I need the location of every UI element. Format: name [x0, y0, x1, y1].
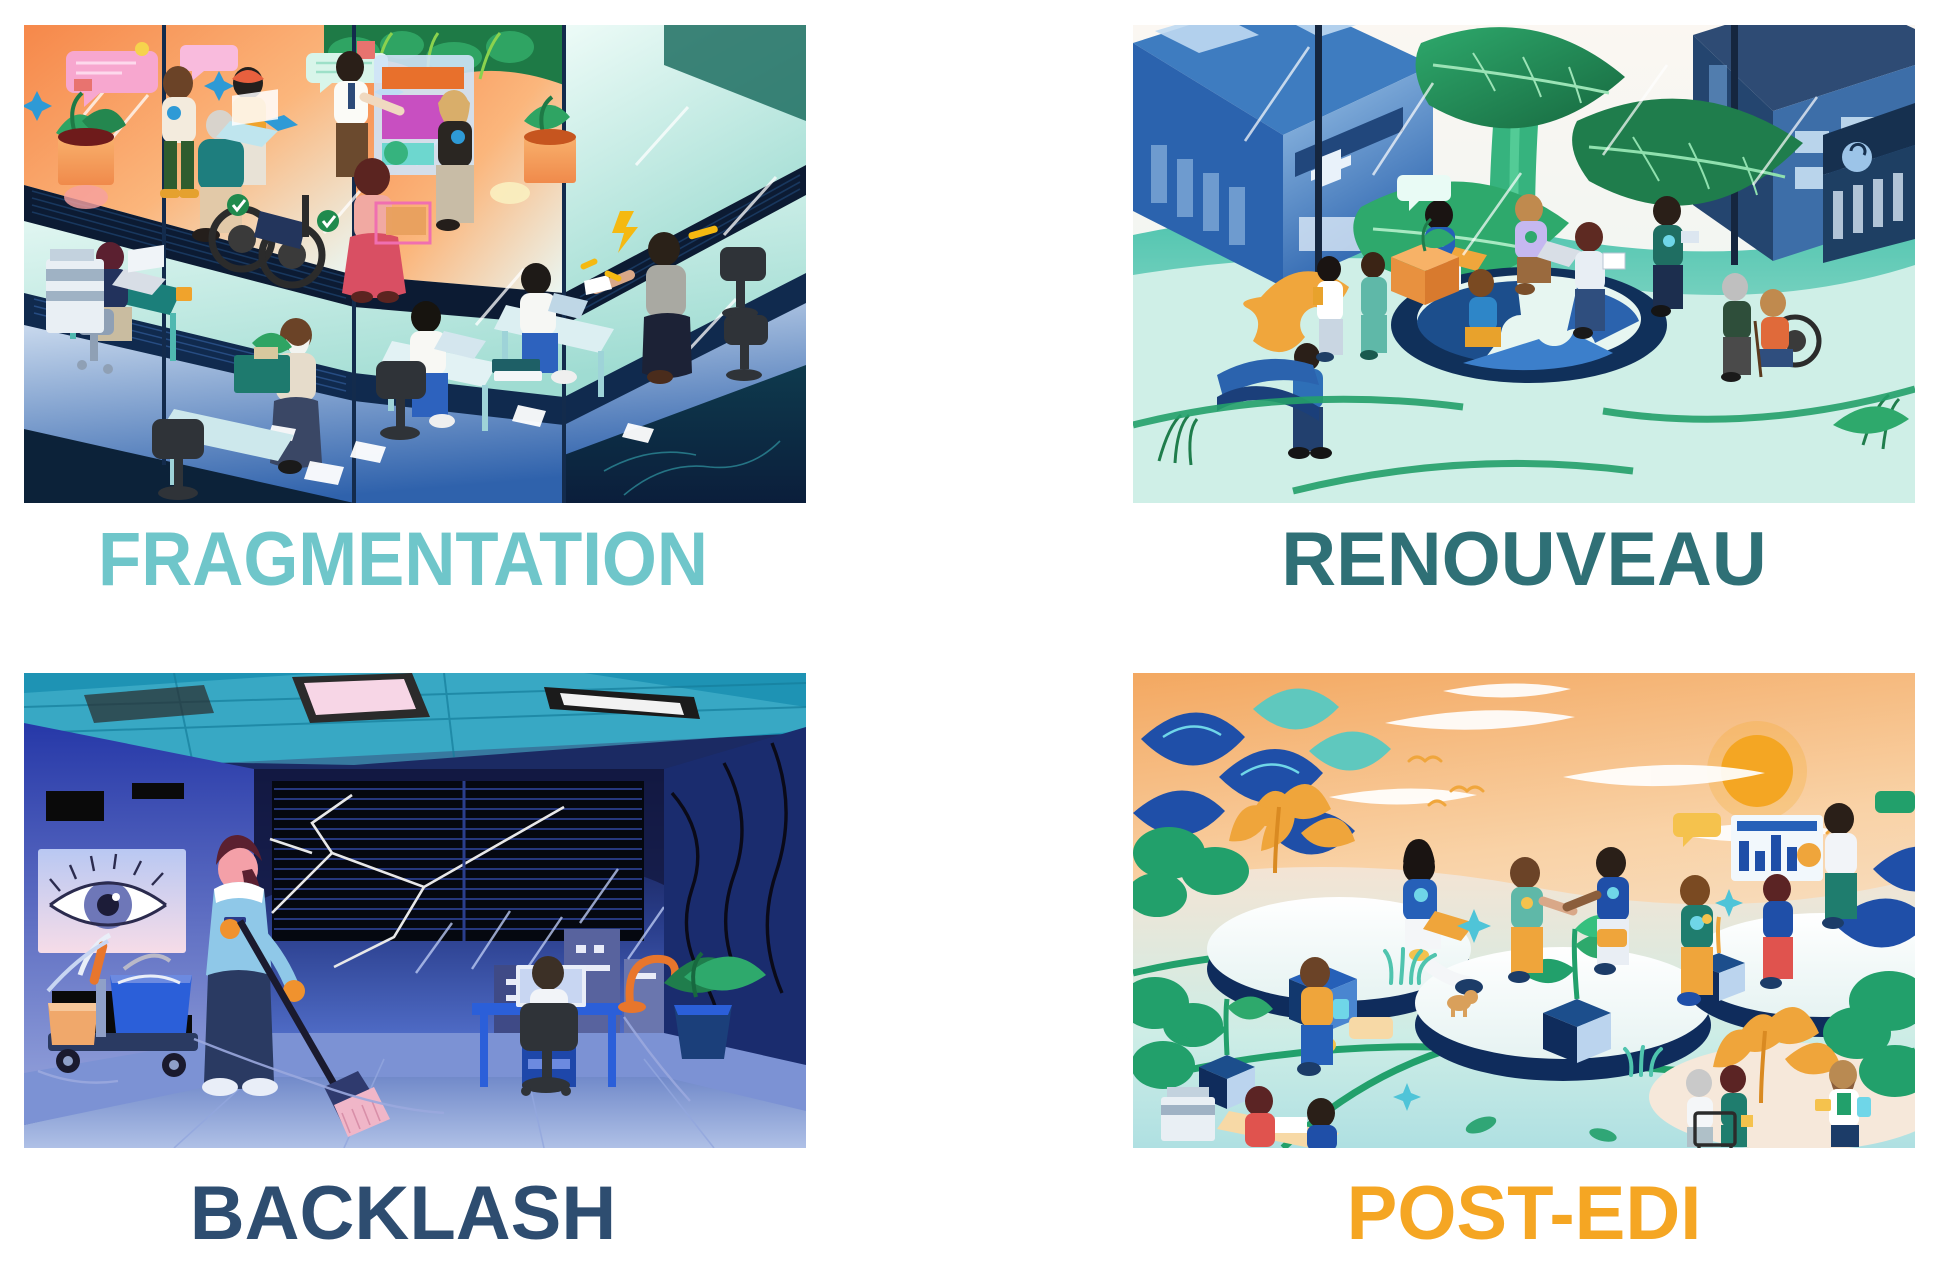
illustration-backlash — [24, 673, 806, 1148]
panel-backlash[interactable]: BACKLASH — [0, 648, 968, 1270]
panel-caption-backlash: BACKLASH — [0, 1176, 806, 1252]
illustration-postedi — [1133, 673, 1915, 1148]
panel-fragmentation[interactable]: FRAGMENTATION — [0, 0, 968, 648]
scenario-grid: FRAGMENTATION — [0, 0, 1936, 1270]
panel-caption-renouveau: RENOUVEAU — [1133, 522, 1915, 598]
panel-renouveau[interactable]: RENOUVEAU — [968, 0, 1936, 648]
illustration-renouveau — [1133, 25, 1915, 503]
panel-postedi[interactable]: POST-EDI — [968, 648, 1936, 1270]
panel-caption-fragmentation: FRAGMENTATION — [28, 522, 778, 598]
illustration-fragmentation — [24, 25, 806, 503]
panel-caption-postedi: POST-EDI — [1133, 1176, 1915, 1252]
